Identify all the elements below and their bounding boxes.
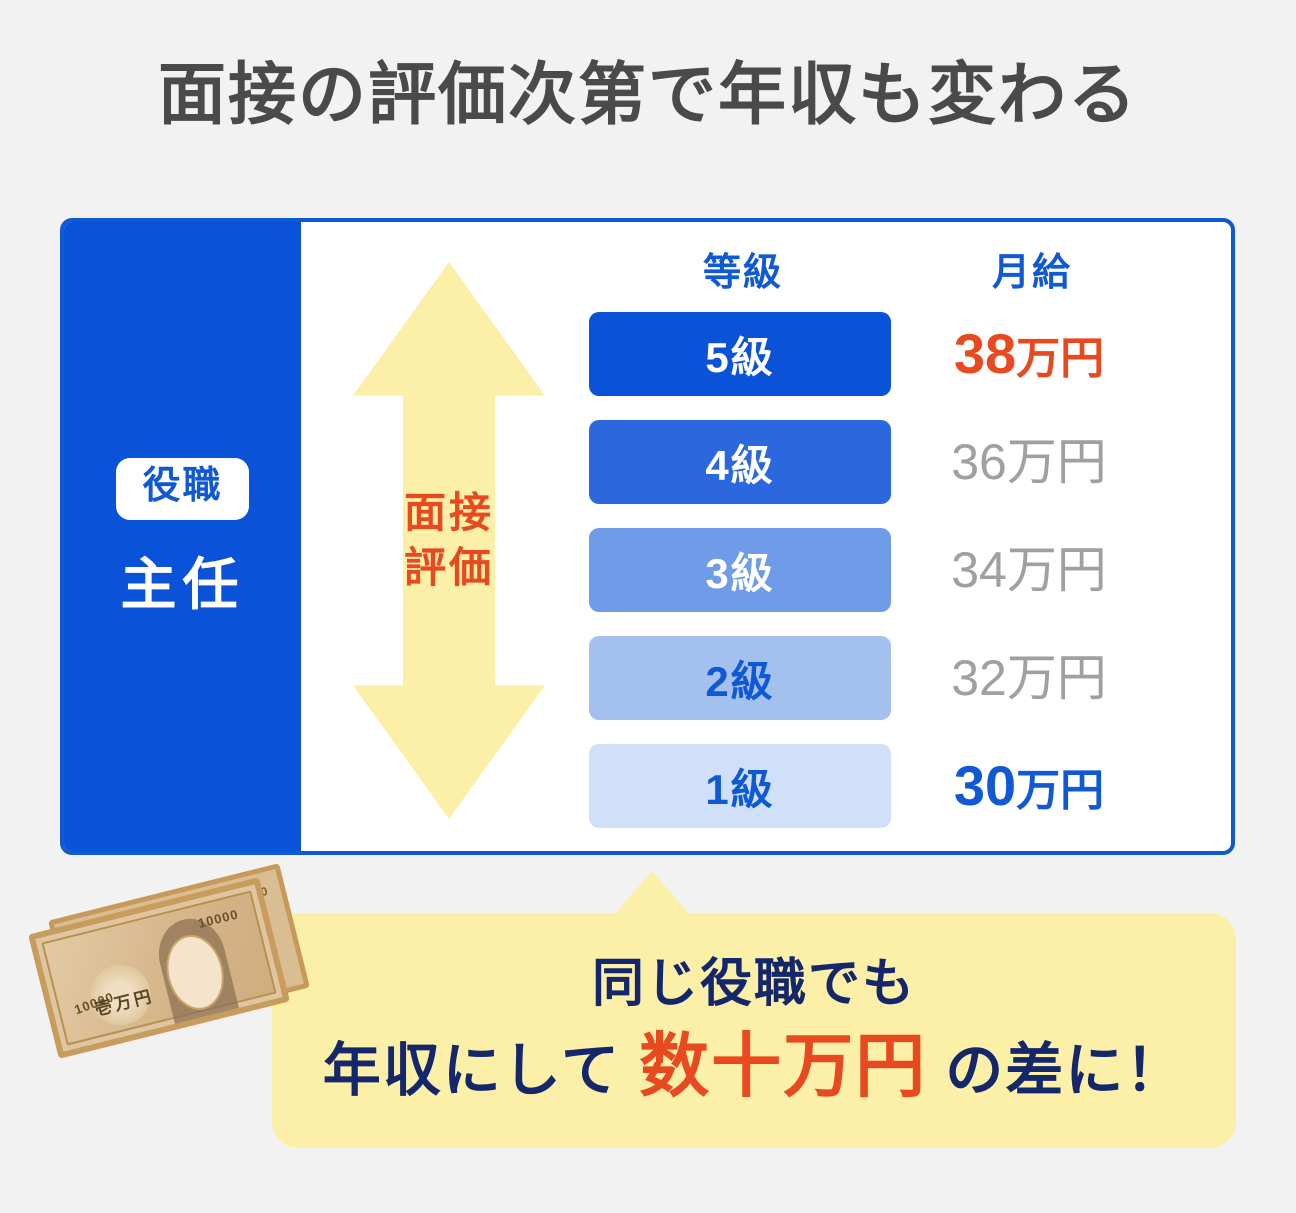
role-badge: 役職: [116, 458, 248, 520]
column-header-grade: 等級: [589, 254, 897, 292]
table-row: 3級34万円: [589, 524, 1167, 616]
role-value: 主任: [121, 554, 245, 616]
callout-line-2: 年収にして 数十万円 の差に！: [323, 1024, 1186, 1108]
salary-number: 36: [951, 434, 1007, 490]
salary-unit: 万円: [1007, 650, 1107, 706]
arrow-label-line1: 面接: [404, 489, 494, 537]
grade-chip[interactable]: 3級: [589, 528, 891, 612]
callout-suffix: の差に！: [927, 1038, 1185, 1103]
callout-pointer-icon: [612, 871, 692, 917]
salary-number: 32: [951, 650, 1007, 706]
banknote-denomination-top: 10000: [196, 906, 240, 931]
salary-unit: 万円: [1016, 334, 1104, 383]
salary-number: 30: [954, 754, 1016, 817]
callout-box: 同じ役職でも 年収にして 数十万円 の差に！: [272, 913, 1236, 1148]
grade-chip[interactable]: 4級: [589, 420, 891, 504]
table-header-row: 等級 月給: [589, 234, 1167, 292]
grade-salary-table: 等級 月給 5級38万円4級36万円3級34万円2級32万円1級30万円: [589, 234, 1167, 834]
grade-chip[interactable]: 2級: [589, 636, 891, 720]
salary-number: 34: [951, 542, 1007, 598]
role-panel: 役職 主任: [64, 222, 301, 851]
salary-number: 38: [954, 322, 1016, 385]
callout-line-1: 同じ役職でも: [592, 953, 916, 1015]
salary-value: 38万円: [891, 326, 1167, 382]
table-row: 2級32万円: [589, 632, 1167, 724]
salary-value: 34万円: [891, 545, 1167, 595]
grade-panel: 面接 評価 等級 月給 5級38万円4級36万円3級34万円2級32万円1級30…: [301, 222, 1231, 851]
salary-unit: 万円: [1016, 766, 1104, 815]
table-body: 5級38万円4級36万円3級34万円2級32万円1級30万円: [589, 308, 1167, 832]
column-header-salary: 月給: [897, 254, 1167, 292]
table-row: 4級36万円: [589, 416, 1167, 508]
callout-prefix: 年収にして: [323, 1038, 639, 1103]
table-row: 1級30万円: [589, 740, 1167, 832]
salary-unit: 万円: [1007, 434, 1107, 490]
banknote-front: 10000 10000 壱万円: [28, 877, 290, 1059]
arrow-label: 面接 評価: [353, 262, 545, 819]
salary-value: 36万円: [891, 437, 1167, 487]
grade-chip[interactable]: 1級: [589, 744, 891, 828]
salary-grade-card: 役職 主任 面接 評価 等級 月給 5級38万円4級36万円3級34万円2級32…: [60, 218, 1235, 855]
page-title: 面接の評価次第で年収も変わる: [0, 58, 1296, 133]
interview-evaluation-arrow: 面接 評価: [353, 262, 545, 819]
salary-value: 30万円: [891, 758, 1167, 814]
table-row: 5級38万円: [589, 308, 1167, 400]
grade-chip[interactable]: 5級: [589, 312, 891, 396]
salary-unit: 万円: [1007, 542, 1107, 598]
salary-value: 32万円: [891, 653, 1167, 703]
arrow-label-line2: 評価: [404, 544, 494, 592]
callout-highlight: 数十万円: [639, 1027, 927, 1105]
banknotes-illustration: 00 10000 10000 壱万円: [18, 868, 308, 1068]
